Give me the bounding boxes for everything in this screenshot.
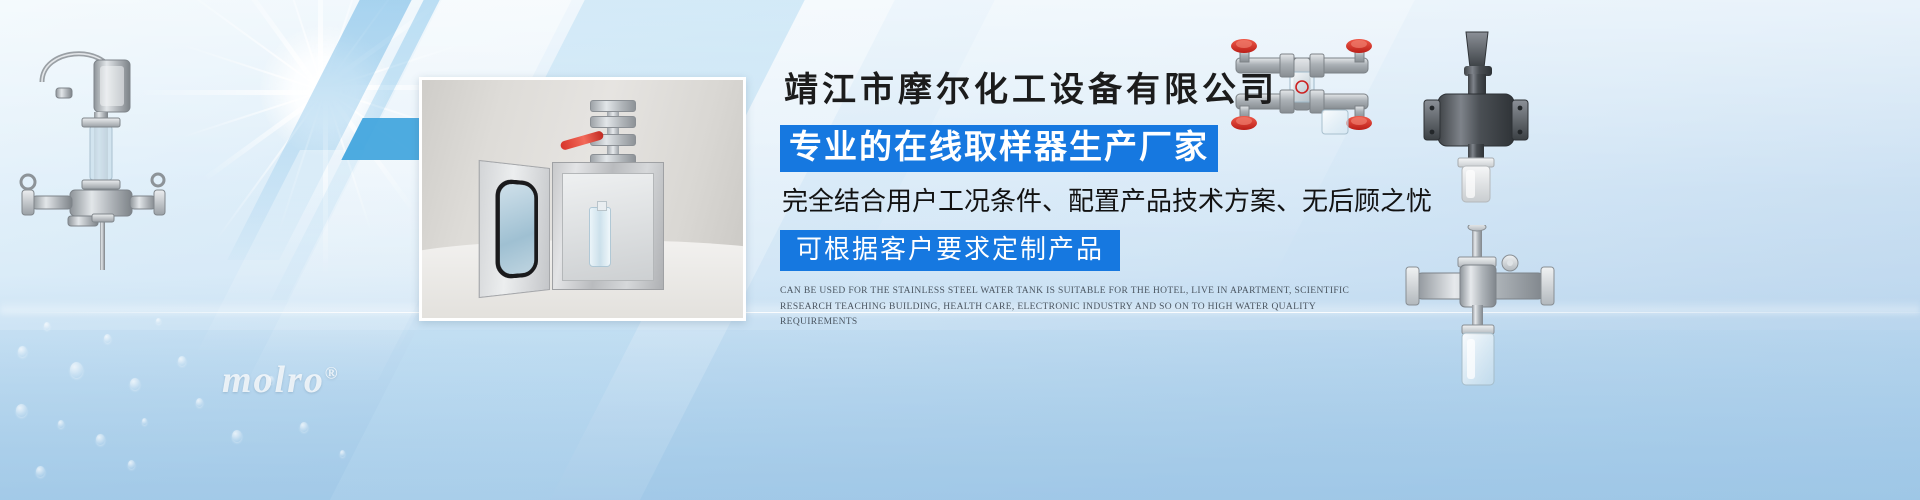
inline-sampler-unit-icon — [1400, 225, 1560, 395]
water-droplets-decoration — [0, 300, 420, 500]
photo-stainless-cabinet — [552, 162, 664, 290]
watermark-logo: molro® — [222, 358, 340, 402]
subline-text: 完全结合用户工况条件、配置产品技术方案、无后顾之忧 — [780, 186, 1400, 217]
lever-handle-flanged-valve-body-icon — [1414, 26, 1532, 206]
english-description: CAN BE USED FOR THE STAINLESS STEEL WATE… — [780, 284, 1380, 330]
watermark-text: molro — [222, 359, 325, 401]
sampling-valve-assembly-left-icon — [8, 30, 168, 270]
custom-order-highlight: 可根据客户要求定制产品 — [780, 230, 1120, 271]
company-name: 靖江市摩尔化工设备有限公司 — [780, 74, 1400, 108]
online-sampler-cabinet-photo — [419, 77, 746, 321]
watermark-registered-mark: ® — [325, 363, 340, 382]
headline-highlight: 专业的在线取样器生产厂家 — [780, 125, 1218, 172]
product-banner: 靖江市摩尔化工设备有限公司 专业的在线取样器生产厂家 完全结合用户工况条件、配置… — [0, 0, 1920, 500]
photo-sample-bottle — [589, 207, 611, 267]
photo-open-cabinet-door — [479, 160, 550, 298]
banner-text-block: 靖江市摩尔化工设备有限公司 专业的在线取样器生产厂家 完全结合用户工况条件、配置… — [780, 74, 1400, 334]
